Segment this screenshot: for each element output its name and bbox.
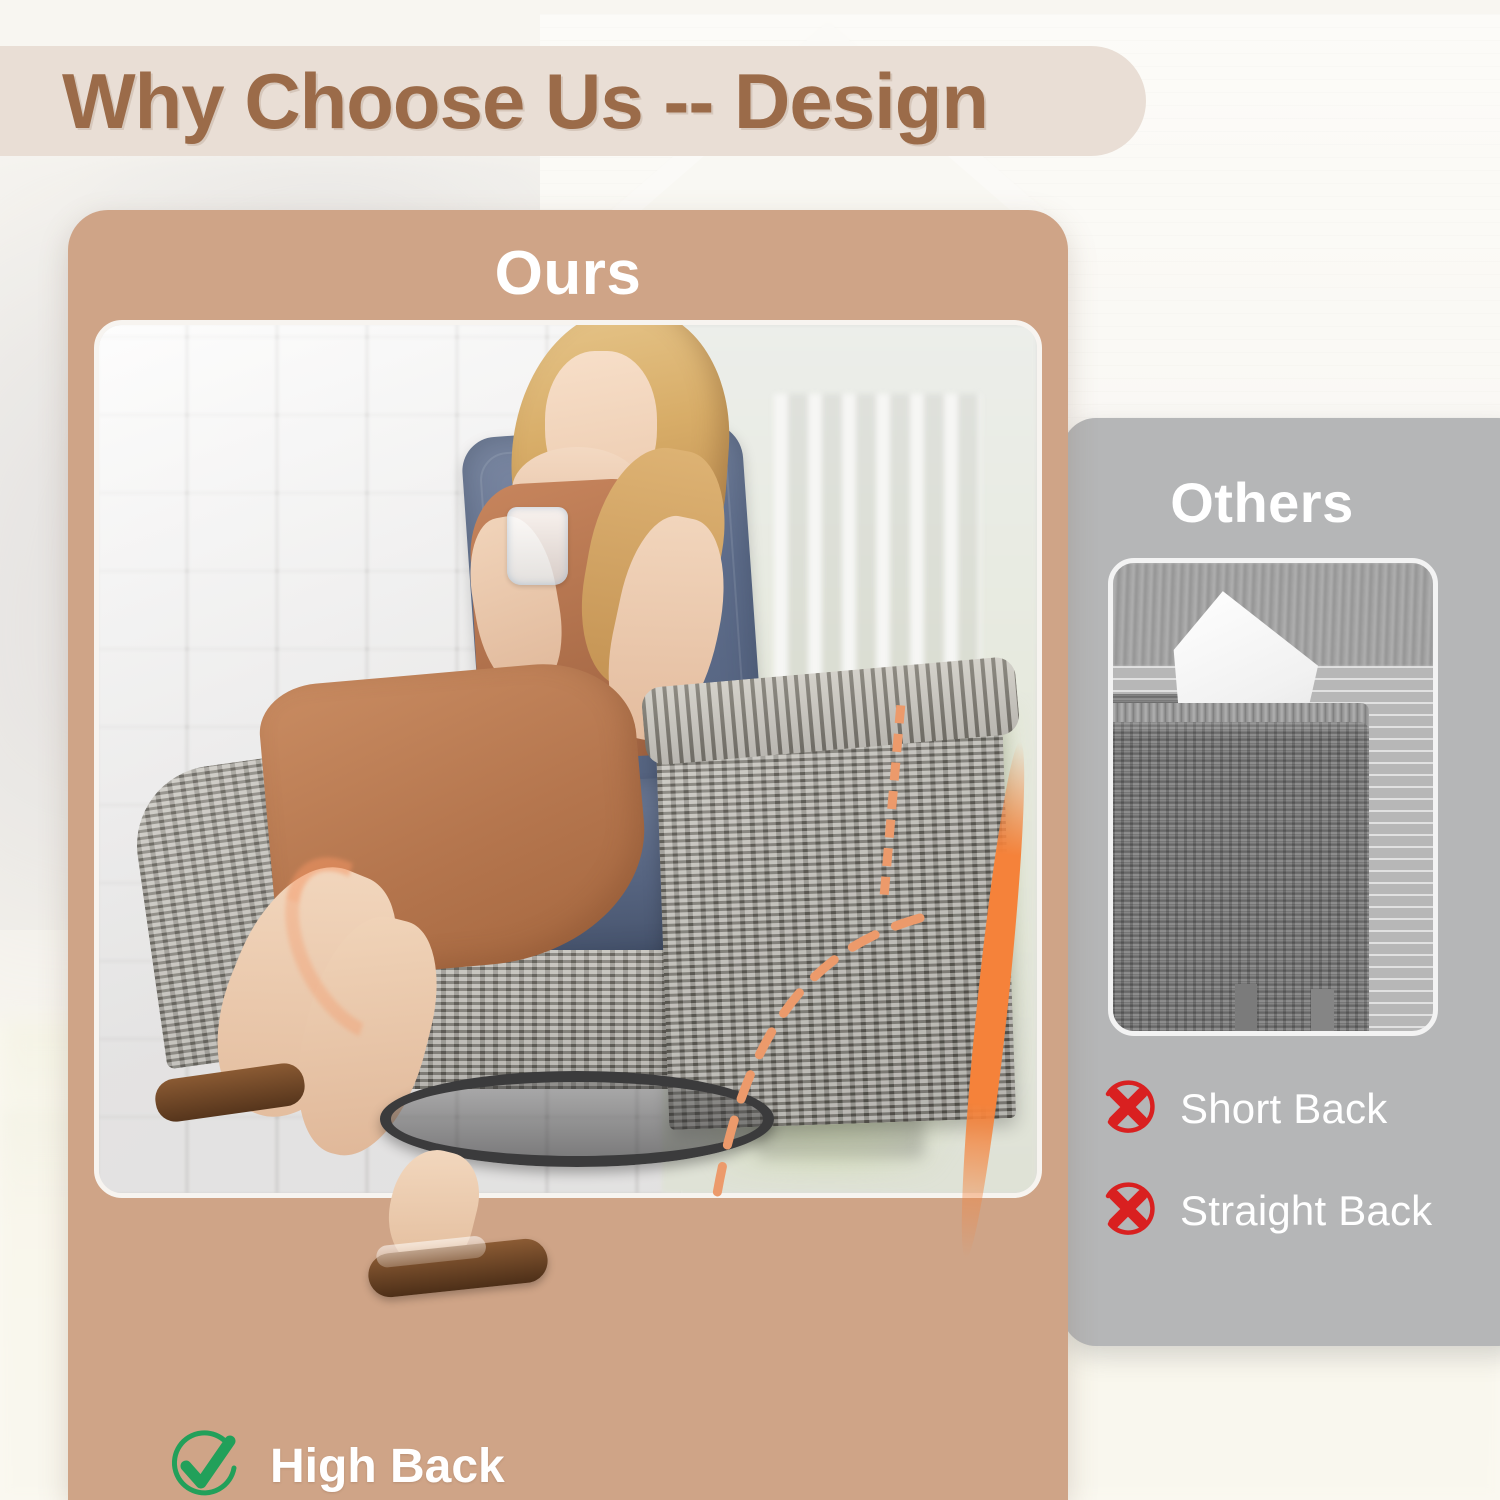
others-photo-sofa-leg-2 — [1311, 989, 1333, 1031]
feature-label: High Back — [270, 1439, 505, 1494]
ours-feature-list: High Back Ergnomic Curve Lumbar Support — [168, 1428, 1027, 1500]
drawback-item: Straight Back — [1098, 1180, 1500, 1242]
check-circle-icon — [168, 1428, 244, 1500]
model-sandal-sole — [366, 1237, 550, 1300]
feature-item: High Back — [168, 1428, 1027, 1500]
page-title: Why Choose Us -- Design — [62, 56, 988, 147]
drawback-label: Short Back — [1180, 1085, 1387, 1133]
others-drawback-list: Short Back Straight Back — [1098, 1078, 1500, 1282]
others-product-photo — [1108, 558, 1438, 1036]
ours-panel-title: Ours — [68, 238, 1068, 309]
drawback-label: Straight Back — [1180, 1187, 1432, 1235]
drawback-item: Short Back — [1098, 1078, 1500, 1140]
model-drinking-glass — [507, 507, 568, 585]
others-comparison-card: Others Short Back — [1062, 418, 1500, 1346]
others-photo-sofa-leg — [1235, 984, 1257, 1031]
ours-comparison-card: Ours — [68, 210, 1068, 1500]
title-banner: Why Choose Us -- Design — [0, 46, 1146, 156]
curve-guide-dashed-line — [628, 900, 928, 1220]
others-panel-title: Others — [1062, 470, 1500, 535]
model-foot-overflow — [368, 1150, 578, 1300]
x-circle-icon — [1098, 1078, 1160, 1140]
x-circle-icon — [1098, 1180, 1160, 1242]
